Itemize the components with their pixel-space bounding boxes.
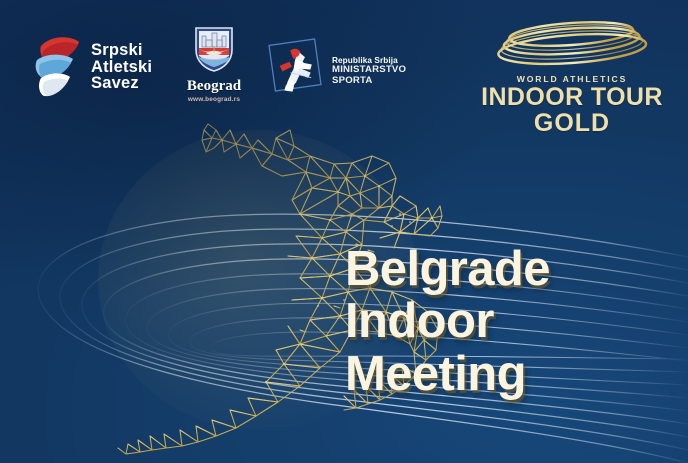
sas-line-1: Srpski [91, 42, 152, 59]
ministry-athlete-logo [266, 36, 328, 98]
beograd-wordmark: Beograd [183, 79, 245, 94]
ministry-wordmark: Republika Srbija MINISTARSTVO SPORTA [332, 47, 406, 87]
event-title-line-3: Meeting [345, 348, 550, 400]
sas-swoosh-logo [32, 26, 84, 108]
gold-tier-label: GOLD [477, 111, 667, 137]
sas-wordmark: Srpski Atletski Savez [91, 42, 152, 93]
event-poster: Srpski Atletski Savez [0, 0, 688, 463]
sas-line-2: Atletski [91, 59, 152, 76]
ministry-line-3: SPORTA [332, 76, 406, 87]
event-title: Belgrade Indoor Meeting [345, 243, 550, 400]
sponsor-ministarstvo-sporta: Republika Srbija MINISTARSTVO SPORTA [266, 36, 406, 98]
belgrade-coat-of-arms [192, 24, 236, 72]
world-athletics-indoor-tour-gold-logo: WORLD ATHLETICS INDOOR TOUR GOLD [477, 20, 667, 136]
world-athletics-rings-logo [477, 20, 667, 72]
sponsor-srpski-atletski-savez: Srpski Atletski Savez [32, 26, 152, 108]
indoor-tour-label: INDOOR TOUR [477, 85, 667, 111]
event-title-line-1: Belgrade [345, 243, 550, 295]
event-title-line-2: Indoor [345, 295, 550, 347]
sponsor-logo-row: Srpski Atletski Savez [0, 0, 688, 140]
beograd-url: www.beograd.rs [183, 96, 245, 103]
sas-line-3: Savez [91, 75, 152, 92]
sponsor-beograd: Beograd www.beograd.rs [183, 24, 245, 103]
